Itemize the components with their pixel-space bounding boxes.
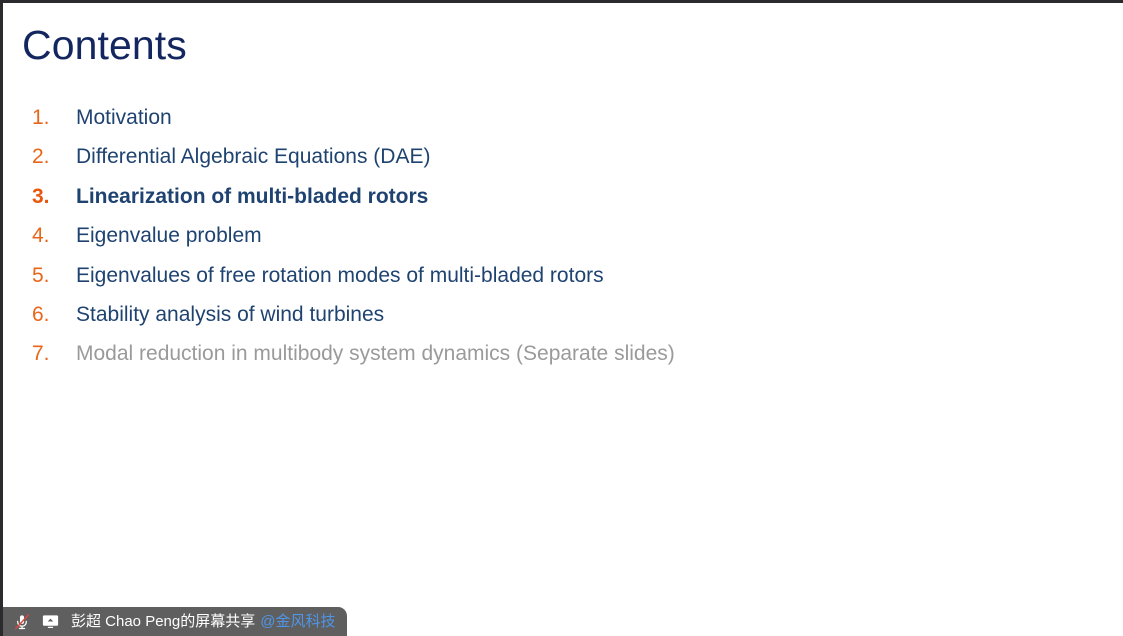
screen-share-status-bar[interactable]: 彭超 Chao Peng的屏幕共享 @金风科技 xyxy=(3,607,347,636)
window-edge-top xyxy=(0,0,1123,3)
list-item-number: 2. xyxy=(22,143,76,170)
presentation-slide: Contents 1. Motivation 2. Differential A… xyxy=(0,0,1123,636)
list-item[interactable]: 5. Eigenvalues of free rotation modes of… xyxy=(22,262,1082,301)
list-item-label: Linearization of multi-bladed rotors xyxy=(76,183,428,210)
window-edge-left xyxy=(0,0,3,636)
screen-share-icon[interactable] xyxy=(39,611,61,633)
list-item[interactable]: 1. Motivation xyxy=(22,104,1082,143)
list-item-number: 7. xyxy=(22,340,76,367)
list-item-label: Stability analysis of wind turbines xyxy=(76,301,384,328)
list-item-number: 6. xyxy=(22,301,76,328)
list-item-label: Eigenvalue problem xyxy=(76,222,262,249)
share-host-name: @金风科技 xyxy=(260,612,335,632)
list-item[interactable]: 4. Eigenvalue problem xyxy=(22,222,1082,261)
list-item[interactable]: 2. Differential Algebraic Equations (DAE… xyxy=(22,143,1082,182)
list-item-number: 1. xyxy=(22,104,76,131)
list-item-number: 5. xyxy=(22,262,76,289)
share-status-text: 彭超 Chao Peng的屏幕共享 xyxy=(71,612,255,632)
list-item-number: 4. xyxy=(22,222,76,249)
page-title: Contents xyxy=(22,20,187,70)
microphone-muted-icon[interactable] xyxy=(11,611,33,633)
list-item-label: Modal reduction in multibody system dyna… xyxy=(76,340,675,367)
list-item[interactable]: 6. Stability analysis of wind turbines xyxy=(22,301,1082,340)
contents-list: 1. Motivation 2. Differential Algebraic … xyxy=(22,104,1082,380)
list-item-disabled[interactable]: 7. Modal reduction in multibody system d… xyxy=(22,340,1082,379)
list-item-current[interactable]: 3. Linearization of multi-bladed rotors xyxy=(22,183,1082,222)
list-item-number: 3. xyxy=(22,183,76,210)
list-item-label: Eigenvalues of free rotation modes of mu… xyxy=(76,262,604,289)
list-item-label: Differential Algebraic Equations (DAE) xyxy=(76,143,430,170)
list-item-label: Motivation xyxy=(76,104,172,131)
